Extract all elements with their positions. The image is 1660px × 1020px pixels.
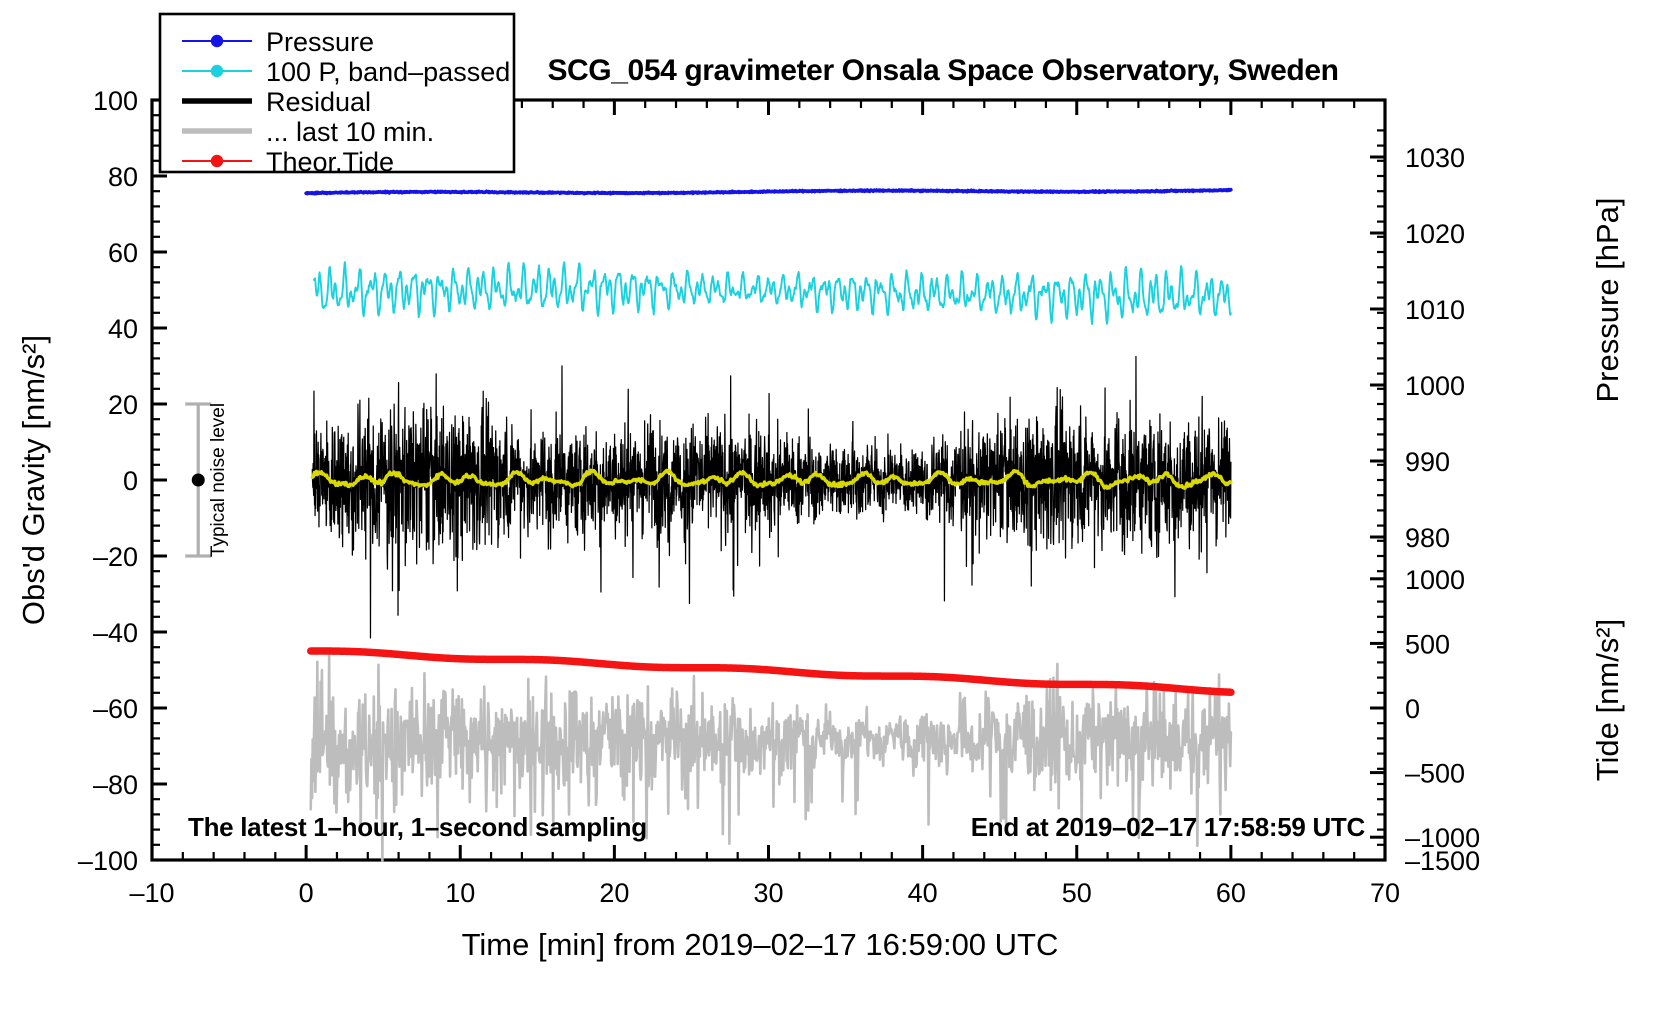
- legend-marker-1: [211, 65, 223, 77]
- y-tick-label: 80: [108, 162, 138, 192]
- right-tide-tick-label: 0: [1405, 694, 1420, 724]
- trace-pressure: [306, 190, 1231, 194]
- x-tick-label: 30: [753, 878, 783, 908]
- right-pressure-tick-label: 1000: [1405, 371, 1465, 401]
- footer-left-annotation: The latest 1–hour, 1–second sampling: [188, 812, 647, 842]
- x-tick-label: 60: [1216, 878, 1246, 908]
- y-tick-label: –40: [93, 618, 138, 648]
- x-tick-label: 0: [299, 878, 314, 908]
- right-pressure-tick-label: 1020: [1405, 219, 1465, 249]
- y-tick-label: 40: [108, 314, 138, 344]
- gravimeter-time-series-chart: Typical noise level –1001020304050607010…: [0, 0, 1660, 1020]
- y-tick-label: 0: [123, 466, 138, 496]
- right-pressure-tick-label: 990: [1405, 447, 1450, 477]
- legend-label-1: 100 P, band–passed: [266, 57, 510, 87]
- legend-marker-4: [211, 155, 223, 167]
- y-axis-title-right-tide: Tide [nm/s²]: [1590, 619, 1625, 782]
- right-tide-tick-label: –1500: [1405, 846, 1480, 876]
- legend-label-4: Theor.Tide: [266, 147, 394, 177]
- right-tide-tick-label: –500: [1405, 759, 1465, 789]
- right-pressure-tick-label: 980: [1405, 523, 1450, 553]
- chart-page: Typical noise level –1001020304050607010…: [0, 0, 1660, 1020]
- right-pressure-tick-label: 1030: [1405, 143, 1465, 173]
- right-tide-tick-label: 500: [1405, 629, 1450, 659]
- footer-right-annotation: End at 2019–02–17 17:58:59 UTC: [971, 812, 1366, 842]
- x-tick-label: 20: [599, 878, 629, 908]
- y-axis-title-left: Obs'd Gravity [nm/s²]: [16, 335, 51, 625]
- x-tick-label: 50: [1062, 878, 1092, 908]
- legend: Pressure100 P, band–passedResidual... la…: [160, 14, 514, 177]
- legend-marker-0: [211, 35, 223, 47]
- page-title: SCG_054 gravimeter Onsala Space Observat…: [547, 54, 1338, 87]
- y-tick-label: –100: [78, 846, 138, 876]
- x-axis-title: Time [min] from 2019–02–17 16:59:00 UTC: [462, 927, 1059, 962]
- legend-label-3: ... last 10 min.: [266, 117, 434, 147]
- y-tick-label: 60: [108, 238, 138, 268]
- right-pressure-tick-label: 1010: [1405, 295, 1465, 325]
- x-tick-label: 10: [445, 878, 475, 908]
- right-tide-tick-label: 1000: [1405, 565, 1465, 595]
- y-tick-label: 100: [93, 86, 138, 116]
- noise-level-label: Typical noise level: [208, 403, 229, 557]
- y-tick-label: 20: [108, 390, 138, 420]
- y-tick-label: –60: [93, 694, 138, 724]
- x-tick-label: –10: [129, 878, 174, 908]
- y-tick-label: –80: [93, 770, 138, 800]
- x-tick-label: 40: [908, 878, 938, 908]
- legend-label-0: Pressure: [266, 27, 374, 57]
- y-tick-label: –20: [93, 542, 138, 572]
- x-tick-label: 70: [1370, 878, 1400, 908]
- y-axis-title-right-pressure: Pressure [hPa]: [1590, 197, 1625, 402]
- noise-center-dot: [192, 474, 205, 487]
- legend-label-2: Residual: [266, 87, 371, 117]
